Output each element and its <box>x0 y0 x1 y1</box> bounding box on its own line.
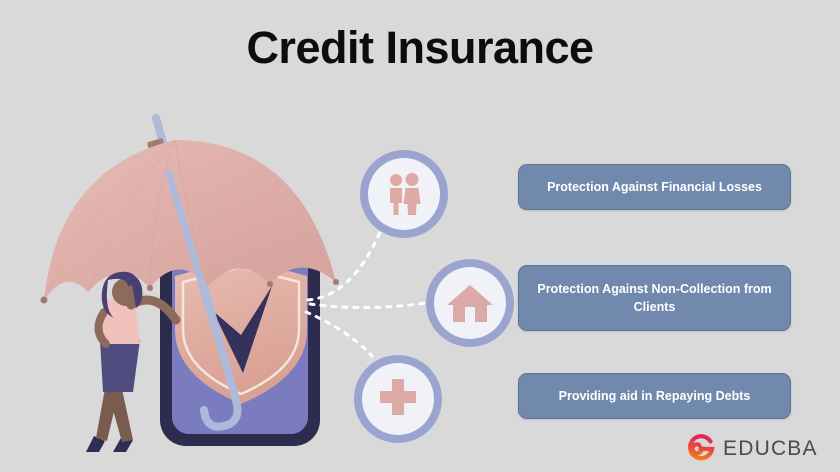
callout-repaying-debts-label: Providing aid in Repaying Debts <box>559 387 751 405</box>
people-icon-inner <box>368 158 440 230</box>
callout-financial-losses-label: Protection Against Financial Losses <box>547 178 762 196</box>
people-icon-glyph <box>381 171 427 217</box>
medical-cross-icon-inner <box>362 363 434 435</box>
medical-cross-icon-glyph <box>376 377 420 421</box>
educba-logo[interactable]: EDUCBA <box>685 432 825 466</box>
credit-insurance-illustration <box>0 0 520 472</box>
home-icon-inner <box>434 267 506 339</box>
educba-mark-icon <box>685 433 717 465</box>
callout-financial-losses[interactable]: Protection Against Financial Losses <box>518 164 791 210</box>
medical-cross-icon[interactable] <box>354 355 442 443</box>
callout-non-collection[interactable]: Protection Against Non-Collection from C… <box>518 265 791 331</box>
home-icon-glyph <box>446 281 494 325</box>
callout-repaying-debts[interactable]: Providing aid in Repaying Debts <box>518 373 791 419</box>
callout-non-collection-label: Protection Against Non-Collection from C… <box>533 280 776 316</box>
educba-logo-text: EDUCBA <box>723 437 818 461</box>
slide-canvas: Credit Insurance <box>0 0 840 472</box>
home-icon[interactable] <box>426 259 514 347</box>
people-icon[interactable] <box>360 150 448 238</box>
